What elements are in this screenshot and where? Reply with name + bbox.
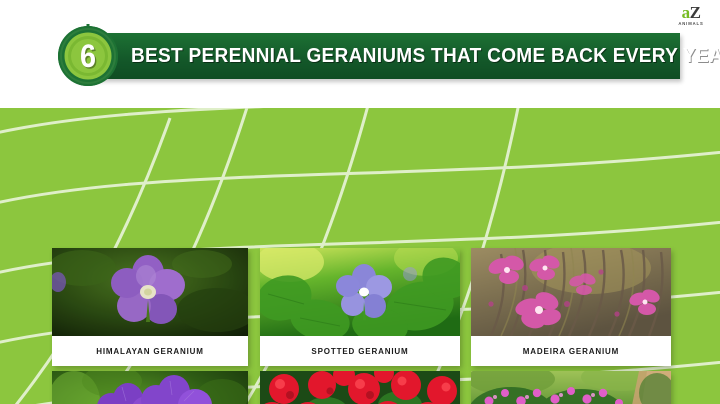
- header: BEST PERENNIAL GERANIUMS THAT COME BACK …: [0, 0, 720, 108]
- wood-geranium-image: [471, 371, 671, 404]
- blood-red-geranium-image: [260, 371, 460, 404]
- brand-logo[interactable]: aZ ANIMALS: [674, 4, 708, 30]
- meadow-geranium-photo: [52, 371, 248, 404]
- himalayan-geranium-photo: [52, 248, 248, 336]
- spotted-geranium-image: [260, 248, 460, 336]
- blood-red-geranium-photo: [260, 371, 460, 404]
- card-madeira-geranium[interactable]: MADEIRA GERANIUM: [471, 248, 671, 366]
- card-label: HIMALAYAN GERANIUM: [52, 336, 248, 366]
- page-title: BEST PERENNIAL GERANIUMS THAT COME BACK …: [131, 33, 634, 79]
- logo-letter-z: Z: [690, 3, 701, 22]
- himalayan-geranium-image: [52, 248, 248, 336]
- wood-geranium-photo: [471, 371, 671, 404]
- title-bar: BEST PERENNIAL GERANIUMS THAT COME BACK …: [73, 33, 680, 79]
- spotted-geranium-photo: [260, 248, 460, 336]
- card-label: MADEIRA GERANIUM: [471, 336, 671, 366]
- meadow-geranium-image: [52, 371, 248, 404]
- card-himalayan-geranium[interactable]: HIMALAYAN GERANIUM: [52, 248, 248, 366]
- card-blood-red-geranium[interactable]: BLOOD-RED GERANIUM: [260, 371, 460, 404]
- card-meadow-geranium[interactable]: MEADOW GERANIUM: [52, 371, 248, 404]
- madeira-geranium-photo: [471, 248, 671, 336]
- card-spotted-geranium[interactable]: SPOTTED GERANIUM: [260, 248, 460, 366]
- logo-wordmark: ANIMALS: [674, 21, 708, 27]
- logo-mark: aZ: [674, 4, 708, 21]
- logo-letter-a: a: [682, 3, 690, 22]
- madeira-geranium-image: [471, 248, 671, 336]
- card-label: SPOTTED GERANIUM: [260, 336, 460, 366]
- card-wood-geranium[interactable]: WOOD GERANIUM: [471, 371, 671, 404]
- rank-number: 6: [59, 24, 117, 88]
- infographic-root: BEST PERENNIAL GERANIUMS THAT COME BACK …: [0, 0, 720, 404]
- content-panel: HIMALAYAN GERANIUM: [0, 108, 720, 404]
- rank-badge: 6: [56, 24, 120, 88]
